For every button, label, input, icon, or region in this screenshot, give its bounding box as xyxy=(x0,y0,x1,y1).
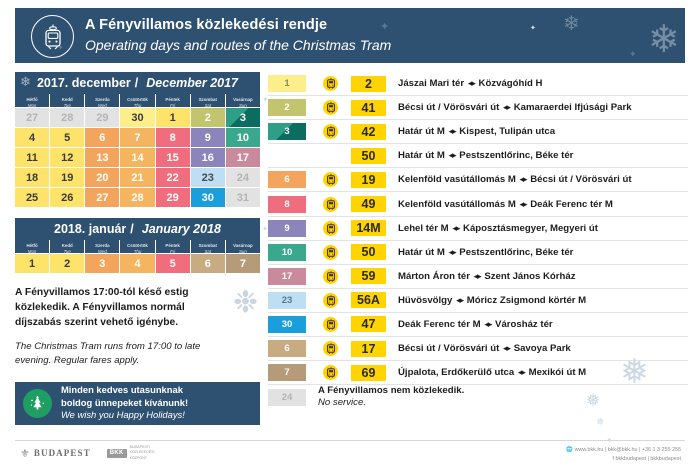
route-from: Hüvösvölgy xyxy=(398,295,452,306)
tram-icon xyxy=(323,221,338,236)
route-to: Mexikói út M xyxy=(529,367,587,378)
calendar-dow-fri: PéntekFri xyxy=(156,240,190,253)
route-terminals: Kelenföld vasútállomás M ◂▸ Bécsi út / V… xyxy=(398,174,632,185)
calendar-day-cell: 30 xyxy=(191,188,225,207)
calendar-day-cell: 12 xyxy=(50,148,84,167)
calendar-day-cell: 22 xyxy=(156,168,190,187)
route-from: Újpalota, Erdőkerülő utca xyxy=(398,367,514,378)
tram-icon xyxy=(323,76,338,91)
route-day-badge: 23 xyxy=(268,292,306,309)
snowflake-icon: ✦ xyxy=(262,96,269,104)
route-from: Bécsi út / Vörösvári út xyxy=(398,102,499,113)
tram-circle-icon xyxy=(31,15,74,58)
route-from: Bécsi út / Vörösvári út xyxy=(398,343,499,354)
route-row: 619Kelenföld vasútállomás M ◂▸ Bécsi út … xyxy=(268,168,688,192)
no-service-text: A Fényvillamos nem közlekedik.No service… xyxy=(318,385,464,411)
service-note: ❉ A Fényvillamos 17:00-tól késő estig kö… xyxy=(15,286,260,368)
calendar-day-cell: 20 xyxy=(85,168,119,187)
snowflake-icon: ❉ xyxy=(233,288,258,318)
route-terminals: Jászai Mari tér ◂▸ Közvágóhíd H xyxy=(398,78,543,89)
bidirectional-arrow-icon: ◂▸ xyxy=(467,78,476,88)
snowflake-icon: ✦ xyxy=(629,50,637,59)
calendar-title-hu: 2017. december xyxy=(37,76,131,90)
bidirectional-arrow-icon: ◂▸ xyxy=(451,223,460,233)
route-day-badge: 8 xyxy=(268,196,306,213)
route-from: Jászai Mari tér xyxy=(398,78,464,89)
calendar-day-cell: 19 xyxy=(50,168,84,187)
greeting-box: Minden kedves utasunknak boldog ünnepeke… xyxy=(15,382,260,425)
calendar-day-cell: 1 xyxy=(15,254,49,273)
footer-contact-line1: 🌐 www.bkk.hu | bkk@bkk.hu | +36 1 3 255 … xyxy=(566,446,681,455)
route-row: 50Határ út M ◂▸ Pestszentlőrinc, Béke té… xyxy=(268,144,688,168)
calendar-day-cell: 7 xyxy=(120,128,154,147)
calendar-dow-wed: SzerdaWed xyxy=(85,240,119,253)
bidirectional-arrow-icon: ◂▸ xyxy=(448,150,457,160)
route-to: Móricz Zsigmond körtér M xyxy=(467,295,586,306)
calendar-title-hu: 2018. január xyxy=(54,222,126,236)
calendar-day-cell: 5 xyxy=(50,128,84,147)
facebook-icon: f xyxy=(612,456,614,462)
snowflake-icon: ✦ xyxy=(262,226,268,233)
bidirectional-arrow-icon: ◂▸ xyxy=(473,271,482,281)
bidirectional-arrow-icon: ◂▸ xyxy=(502,343,511,353)
route-terminals: Újpalota, Erdőkerülő utca ◂▸ Mexikói út … xyxy=(398,367,586,378)
calendar-day-cell: 5 xyxy=(156,254,190,273)
calendar-day-cell: 2 xyxy=(191,108,225,127)
calendar-dow-fri: PéntekFri xyxy=(156,94,190,107)
route-from: Határ út M xyxy=(398,150,445,161)
route-row: 12Jászai Mari tér ◂▸ Közvágóhíd H xyxy=(268,72,688,96)
calendar-day-cell: 9 xyxy=(191,128,225,147)
page-title-en: Operating days and routes of the Christm… xyxy=(85,36,391,55)
calendar-day-cell: 16 xyxy=(191,148,225,167)
page-footer: ⚜ BUDAPEST BKK BUDAPESTI KÖZLEKEDÉSI KÖZ… xyxy=(15,440,685,467)
route-day-badge: 10 xyxy=(268,244,306,261)
calendar-day-cell: 3 xyxy=(226,108,260,127)
calendar-day-cell: 6 xyxy=(85,128,119,147)
route-from: Határ út M xyxy=(398,126,445,137)
calendar-title-en: December 2017 xyxy=(142,76,238,90)
route-to: Deák Ferenc tér M xyxy=(530,199,613,210)
calendar-dow-header: HétfőMonKeddTueSzerdaWedCsütörtökThuPént… xyxy=(15,94,260,107)
calendar-dow-header: HétfőMonKeddTueSzerdaWedCsütörtökThuPént… xyxy=(15,240,260,253)
snowflake-icon: ❅ xyxy=(596,418,604,428)
route-day-badge: 1 xyxy=(268,75,306,92)
snowflake-icon: ❄ xyxy=(20,74,31,90)
route-terminals: Határ út M ◂▸ Kispest, Tulipán utca xyxy=(398,126,555,137)
route-terminals: Határ út M ◂▸ Pestszentlőrinc, Béke tér xyxy=(398,150,573,161)
footer-contact-text1: www.bkk.hu | bkk@bkk.hu | +36 1 3 255 25… xyxy=(575,447,681,453)
calendar-day-cell: 2 xyxy=(50,254,84,273)
route-line-badge[interactable]: 50 xyxy=(351,148,386,164)
calendar-day-cell: 31 xyxy=(226,188,260,207)
calendar-day-cell: 14 xyxy=(120,148,154,167)
footer-logos: ⚜ BUDAPEST BKK BUDAPESTI KÖZLEKEDÉSI KÖZ… xyxy=(20,445,155,461)
route-terminals: Bécsi út / Vörösvári út ◂▸ Savoya Park xyxy=(398,343,571,354)
route-row: 1759Márton Áron tér ◂▸ Szent János Kórhá… xyxy=(268,265,688,289)
route-day-badge: 6 xyxy=(268,171,306,188)
left-column: ❄ 2017. december / December 2017 HétfőMo… xyxy=(15,72,260,425)
calendar-day-cell: 24 xyxy=(226,168,260,187)
route-to: Pestszentlőrinc, Béke tér xyxy=(459,150,573,161)
route-row: 849Kelenföld vasútállomás M ◂▸ Deák Fere… xyxy=(268,192,688,216)
bkk-sub-2: KÖZLEKEDÉSI xyxy=(130,450,155,455)
calendar-day-cell: 11 xyxy=(15,148,49,167)
route-terminals: Deák Ferenc tér M ◂▸ Városház tér xyxy=(398,319,553,330)
calendar-day-cell: 23 xyxy=(191,168,225,187)
route-line-badge[interactable]: 47 xyxy=(351,316,386,332)
route-from: Lehel tér M xyxy=(398,223,449,234)
calendar-day-cell: 10 xyxy=(226,128,260,147)
greeting-text: Minden kedves utasunknak boldog ünnepeke… xyxy=(61,384,188,421)
bkk-logo-mark: BKK xyxy=(107,449,127,458)
calendar-day-cell: 29 xyxy=(85,108,119,127)
calendar-dow-mon: HétfőMon xyxy=(15,240,49,253)
route-terminals: Kelenföld vasútállomás M ◂▸ Deák Ferenc … xyxy=(398,199,613,210)
header-text: A Fényvillamos közlekedési rendje Operat… xyxy=(85,16,391,54)
route-to: Kamaraerdei Ifjúsági Park xyxy=(514,102,632,113)
bidirectional-arrow-icon: ◂▸ xyxy=(448,247,457,257)
snowflake-icon: ✦ xyxy=(530,25,536,32)
page-title-hu: A Fényvillamos közlekedési rendje xyxy=(85,16,391,36)
route-row: 2356AHüvösvölgy ◂▸ Móricz Zsigmond körté… xyxy=(268,289,688,313)
greeting-line2: boldog ünnepeket kívánunk! xyxy=(61,397,188,409)
calendar-day-cell: 13 xyxy=(85,148,119,167)
route-line-badge[interactable]: 50 xyxy=(351,244,386,260)
christmas-tree-icon xyxy=(23,389,52,418)
bidirectional-arrow-icon: ◂▸ xyxy=(448,126,457,136)
route-line-badge[interactable]: 56A xyxy=(351,292,386,308)
footer-contact-text2: bkkbudapest | bkkbudapest xyxy=(615,456,681,462)
bidirectional-arrow-icon: ◂▸ xyxy=(519,199,528,209)
route-day-badge: 6 xyxy=(268,340,306,357)
route-line-badge[interactable]: 49 xyxy=(351,196,386,212)
calendar-day-cell: 1 xyxy=(156,108,190,127)
calendar-day-cell: 29 xyxy=(156,188,190,207)
poster-root: ✦ ✦ ❄ ✦ ❄ ✦ A Fényvillamos közlekedési r… xyxy=(0,0,700,471)
route-to: Bécsi út / Vörösvári út xyxy=(530,174,631,185)
calendar-dow-sun: VasárnapSun xyxy=(226,240,260,253)
calendar-day-cell: 17 xyxy=(226,148,260,167)
snowflake-icon: ❅ xyxy=(620,355,649,389)
route-from: Kelenföld vasútállomás M xyxy=(398,174,516,185)
calendar-day-cell: 8 xyxy=(156,128,190,147)
no-service-hu: A Fényvillamos nem közlekedik. xyxy=(318,385,464,398)
bkk-logo-subtitle: BUDAPESTI KÖZLEKEDÉSI KÖZPONT xyxy=(130,445,155,461)
calendar-day-cell: 4 xyxy=(15,128,49,147)
route-line-badge[interactable]: 2 xyxy=(351,76,386,92)
bidirectional-arrow-icon: ◂▸ xyxy=(455,295,464,305)
route-day-badge: 3 xyxy=(268,123,306,140)
bkk-sub-3: KÖZPONT xyxy=(130,456,155,461)
snowflake-icon: ❅ xyxy=(586,392,600,409)
footer-contact: 🌐 www.bkk.hu | bkk@bkk.hu | +36 1 3 255 … xyxy=(566,446,681,464)
bidirectional-arrow-icon: ◂▸ xyxy=(502,102,511,112)
calendar-grid: 1234567 xyxy=(15,254,260,273)
route-to: Káposztásmegyer, Megyeri út xyxy=(463,223,598,234)
page-header: ✦ ✦ ❄ ✦ ❄ ✦ A Fényvillamos közlekedési r… xyxy=(15,8,685,63)
route-day-badge: 24 xyxy=(268,389,306,406)
tram-icon xyxy=(323,124,338,139)
calendar-day-cell: 21 xyxy=(120,168,154,187)
route-line-badge[interactable]: 14M xyxy=(351,220,386,236)
calendar-day-cell: 27 xyxy=(85,188,119,207)
route-row: 3047Deák Ferenc tér M ◂▸ Városház tér xyxy=(268,313,688,337)
route-line-badge[interactable]: 17 xyxy=(351,341,386,357)
service-note-hu: A Fényvillamos 17:00-tól késő estig közl… xyxy=(15,286,215,331)
route-row: 1050Határ út M ◂▸ Pestszentlőrinc, Béke … xyxy=(268,241,688,265)
calendar-day-cell: 27 xyxy=(15,108,49,127)
bidirectional-arrow-icon: ◂▸ xyxy=(483,319,492,329)
service-note-en: The Christmas Tram runs from 17:00 to la… xyxy=(15,340,220,368)
route-to: Városház tér xyxy=(495,319,553,330)
route-from: Határ út M xyxy=(398,247,445,258)
calendar-day-cell: 28 xyxy=(120,188,154,207)
calendar-day-cell: 28 xyxy=(50,108,84,127)
route-from: Deák Ferenc tér M xyxy=(398,319,481,330)
footer-contact-line2: f bkkbudapest | bkkbudapest xyxy=(566,455,681,464)
route-row: 914MLehel tér M ◂▸ Káposztásmegyer, Megy… xyxy=(268,217,688,241)
calendar-day-cell: 6 xyxy=(191,254,225,273)
route-day-badge: 9 xyxy=(268,220,306,237)
no-service-en: No service. xyxy=(318,397,464,410)
bidirectional-arrow-icon: ◂▸ xyxy=(517,367,526,377)
calendar-dow-sat: SzombatSat xyxy=(191,240,225,253)
route-line-badge[interactable]: 59 xyxy=(351,268,386,284)
calendar-day-cell: 15 xyxy=(156,148,190,167)
route-day-badge: 17 xyxy=(268,268,306,285)
route-to: Közvágóhíd H xyxy=(479,78,543,89)
snowflake-icon: ❄ xyxy=(563,14,580,34)
calendar-dow-sun: VasárnapSun xyxy=(226,94,260,107)
calendar-grid: 2728293012345678910111213141516171819202… xyxy=(15,108,260,207)
calendar-day-cell: 30 xyxy=(120,108,154,127)
route-day-badge: 2 xyxy=(268,99,306,116)
tram-icon xyxy=(323,341,338,356)
route-to: Pestszentlőrinc, Béke tér xyxy=(459,247,573,258)
calendar-day-cell: 25 xyxy=(15,188,49,207)
calendar-title: 2018. január / January 2018 xyxy=(15,218,260,240)
route-day-badge: 30 xyxy=(268,316,306,333)
route-to: Savoya Park xyxy=(514,343,571,354)
calendar-day-cell: 18 xyxy=(15,168,49,187)
calendar-dow-tue: KeddTue xyxy=(50,240,84,253)
calendar-dow-wed: SzerdaWed xyxy=(85,94,119,107)
calendar-title-en: January 2018 xyxy=(138,222,221,236)
route-line-badge[interactable]: 42 xyxy=(351,124,386,140)
route-day-badge xyxy=(268,147,306,164)
tram-icon xyxy=(323,365,338,380)
route-from: Kelenföld vasútállomás M xyxy=(398,199,516,210)
calendar-dow-sat: SzombatSat xyxy=(191,94,225,107)
calendar-title-sep: / xyxy=(131,76,142,90)
route-terminals: Márton Áron tér ◂▸ Szent János Kórház xyxy=(398,271,576,282)
route-terminals: Lehel tér M ◂▸ Káposztásmegyer, Megyeri … xyxy=(398,223,598,234)
calendar-dow-thu: CsütörtökThu xyxy=(120,240,154,253)
calendar-day-cell: 3 xyxy=(85,254,119,273)
tram-icon xyxy=(323,172,338,187)
calendar-january: 2018. január / January 2018 HétfőMonKedd… xyxy=(15,218,260,273)
tram-icon xyxy=(323,293,338,308)
tram-icon xyxy=(323,317,338,332)
calendar-title-sep: / xyxy=(126,222,137,236)
route-line-badge[interactable]: 41 xyxy=(351,100,386,116)
snowflake-icon: ❄ xyxy=(648,21,680,59)
calendar-dow-mon: HétfőMon xyxy=(15,94,49,107)
calendar-day-cell: 4 xyxy=(120,254,154,273)
bidirectional-arrow-icon: ◂▸ xyxy=(519,174,528,184)
route-to: Kispest, Tulipán utca xyxy=(459,126,555,137)
tram-icon xyxy=(323,197,338,212)
budapest-logo-label: BUDAPEST xyxy=(34,448,91,458)
calendar-day-cell: 26 xyxy=(50,188,84,207)
calendar-day-cell: 7 xyxy=(226,254,260,273)
calendar-december: ❄ 2017. december / December 2017 HétfőMo… xyxy=(15,72,260,207)
greeting-line1: Minden kedves utasunknak xyxy=(61,384,188,396)
route-terminals: Hüvösvölgy ◂▸ Móricz Zsigmond körtér M xyxy=(398,295,586,306)
tram-icon xyxy=(323,245,338,260)
route-line-badge[interactable]: 69 xyxy=(351,365,386,381)
route-terminals: Bécsi út / Vörösvári út ◂▸ Kamaraerdei I… xyxy=(398,102,632,113)
route-row: 342Határ út M ◂▸ Kispest, Tulipán utca xyxy=(268,120,688,144)
greeting-line3: We wish you Happy Holidays! xyxy=(61,409,188,421)
tram-icon xyxy=(323,269,338,284)
route-day-badge: 7 xyxy=(268,364,306,381)
tram-icon xyxy=(323,100,338,115)
calendar-title: ❄ 2017. december / December 2017 xyxy=(15,72,260,94)
route-to: Szent János Kórház xyxy=(484,271,575,282)
calendar-dow-thu: CsütörtökThu xyxy=(120,94,154,107)
route-from: Márton Áron tér xyxy=(398,271,470,282)
bkk-logo: BKK BUDAPESTI KÖZLEKEDÉSI KÖZPONT xyxy=(107,445,155,461)
route-terminals: Határ út M ◂▸ Pestszentlőrinc, Béke tér xyxy=(398,247,573,258)
route-line-badge[interactable]: 19 xyxy=(351,172,386,188)
globe-icon: 🌐 xyxy=(566,447,573,453)
route-row: 241Bécsi út / Vörösvári út ◂▸ Kamaraerde… xyxy=(268,96,688,120)
budapest-crest-icon: ⚜ xyxy=(20,447,30,460)
tram-icon xyxy=(323,148,338,163)
calendar-dow-tue: KeddTue xyxy=(50,94,84,107)
